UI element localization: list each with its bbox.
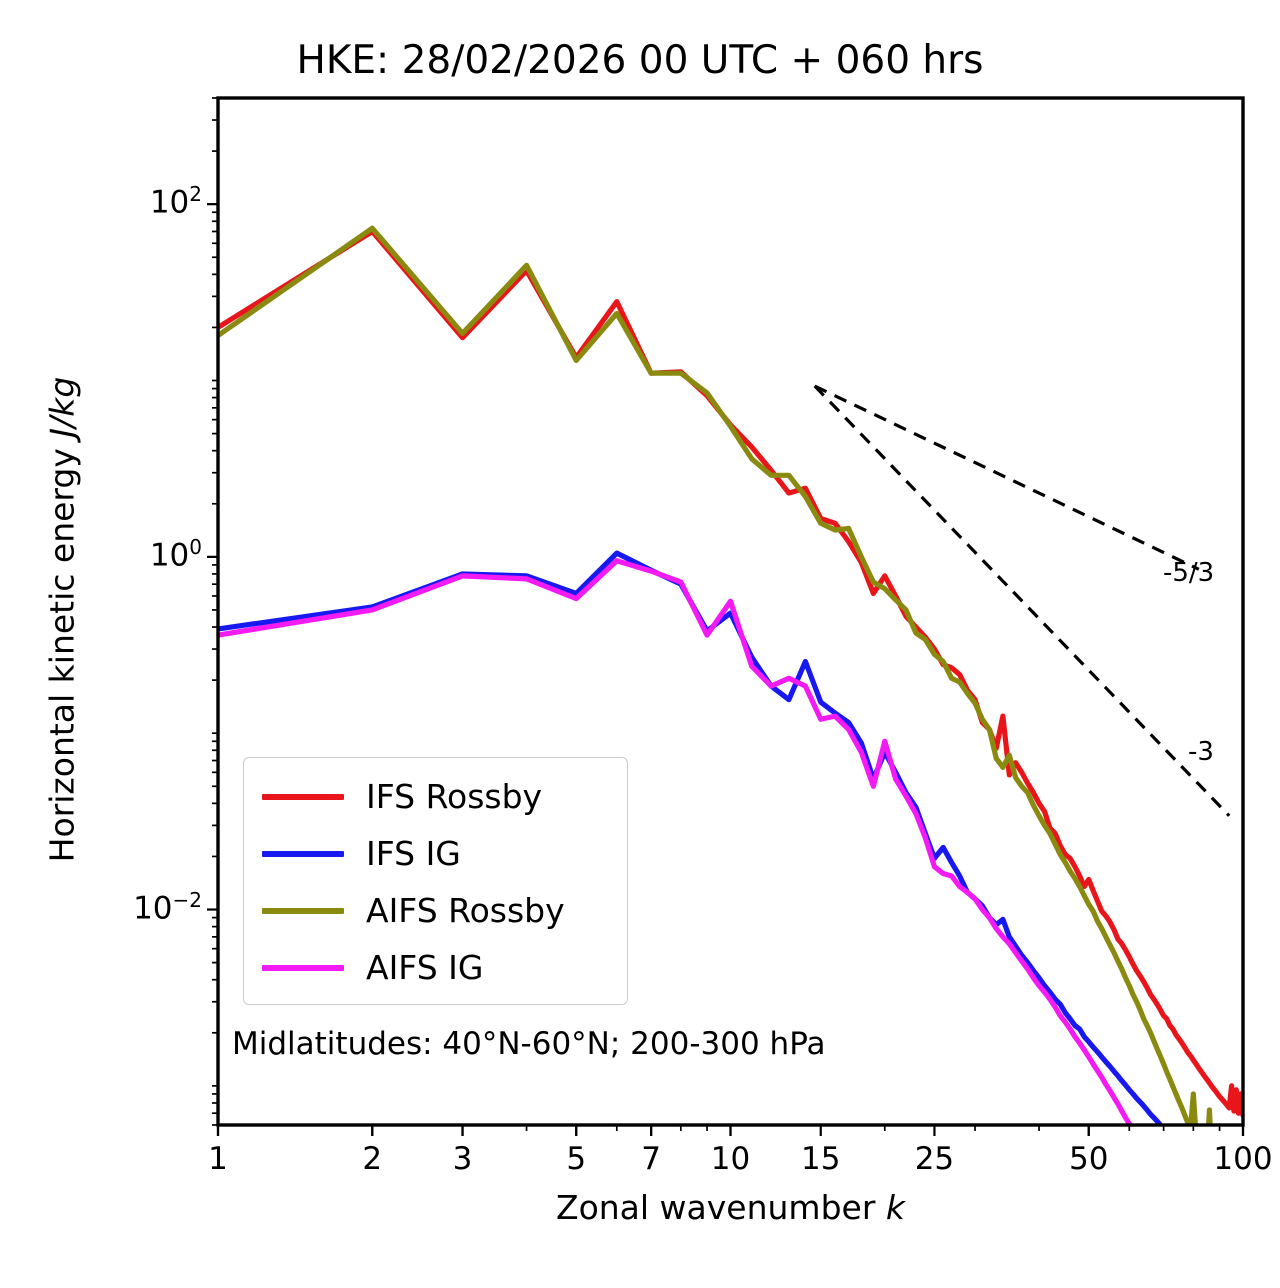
legend-item[interactable]: AIFS Rossby	[244, 882, 627, 939]
legend-item[interactable]: AIFS IG	[244, 939, 627, 996]
x-tick-label: 15	[761, 1141, 881, 1177]
legend-color-swatch	[262, 794, 344, 800]
legend-item-label: IFS IG	[366, 834, 461, 873]
figure-canvas: HKE: 28/02/2026 00 UTC + 060 hrs Horizon…	[0, 0, 1280, 1288]
x-tick-label: 3	[403, 1141, 523, 1177]
legend-item-label: IFS Rossby	[366, 777, 542, 816]
y-tick-label: 10−2	[133, 888, 202, 926]
x-tick-label: 100	[1183, 1141, 1280, 1177]
legend-color-swatch	[262, 851, 344, 857]
slope-label-three: -3	[1188, 737, 1214, 767]
y-tick-label: 102	[150, 182, 202, 220]
slope-label-five-thirds: -5/3	[1163, 558, 1214, 588]
x-tick-label: 50	[1029, 1141, 1149, 1177]
legend-item[interactable]: IFS IG	[244, 825, 627, 882]
x-tick-label: 25	[874, 1141, 994, 1177]
legend-color-swatch	[262, 908, 344, 914]
legend-color-swatch	[262, 965, 344, 971]
legend: IFS RossbyIFS IGAIFS RossbyAIFS IG	[243, 757, 628, 1005]
legend-item-label: AIFS Rossby	[366, 891, 565, 930]
legend-item[interactable]: IFS Rossby	[244, 768, 627, 825]
region-annotation: Midlatitudes: 40°N-60°N; 200-300 hPa	[232, 1026, 826, 1062]
y-tick-label: 100	[150, 535, 202, 573]
x-tick-label: 1	[158, 1141, 278, 1177]
legend-item-label: AIFS IG	[366, 948, 483, 987]
